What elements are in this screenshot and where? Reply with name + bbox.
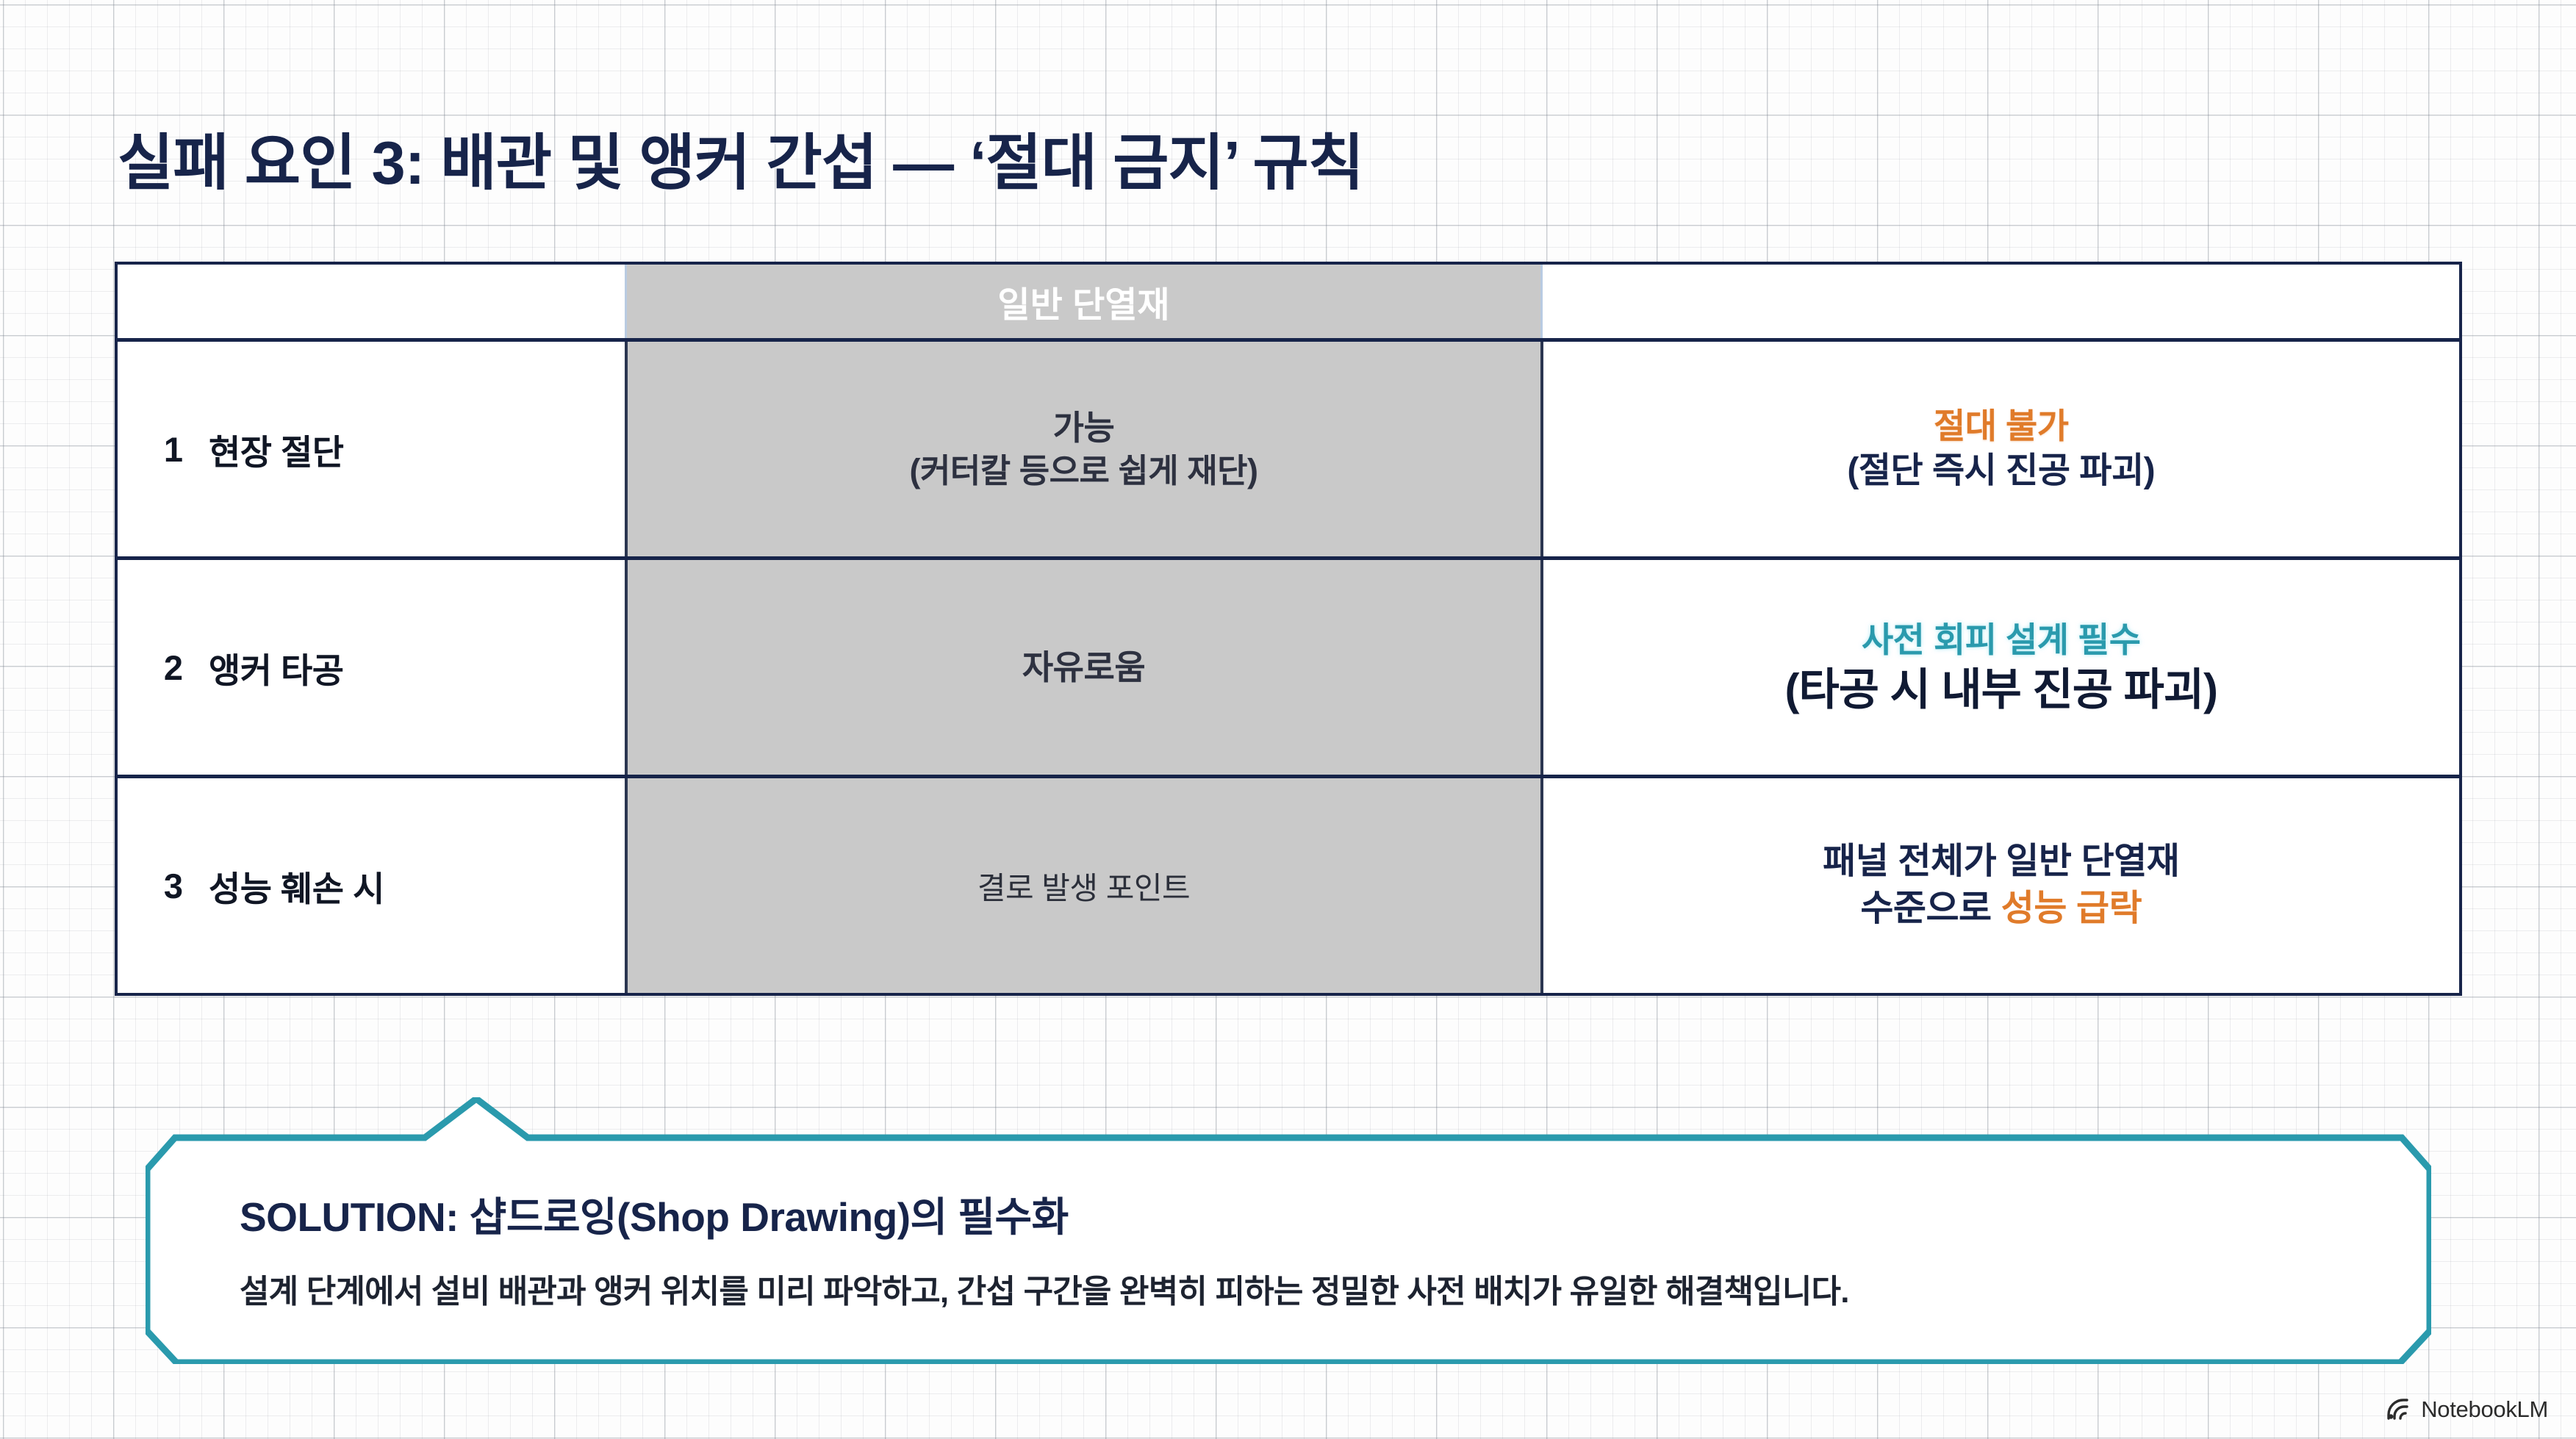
normal-cell-stack: 가능 (커터칼 등으로 쉽게 재단) bbox=[628, 406, 1540, 492]
comparison-table: 구분 일반 단열재 진공단열재(VIP) 1 현장 절단 가능 (커터칼 등으로… bbox=[118, 265, 2459, 993]
vip-cell-stack: 사전 회피 설계 필수 (타공 시 내부 진공 파괴) bbox=[1543, 617, 2460, 717]
vip-line-prefix: 수준으로 bbox=[1860, 889, 2001, 928]
normal-cell-stack: 결로 발생 포인트 bbox=[628, 864, 1540, 908]
normal-cell-stack: 자유로움 bbox=[628, 646, 1540, 689]
table-row: 2 앵커 타공 자유로움 사전 회피 설계 필수 (타공 시 내부 진공 파괴) bbox=[118, 559, 2459, 777]
notebooklm-logo-icon bbox=[2387, 1399, 2412, 1421]
row-number: 2 bbox=[147, 647, 200, 688]
vip-detail-text-2: 수준으로 성능 급락 bbox=[1543, 886, 2460, 933]
cell-vip-3: 패널 전체가 일반 단열재 수준으로 성능 급락 bbox=[1542, 777, 2460, 994]
normal-main-text: 자유로움 bbox=[628, 646, 1540, 689]
solution-content: SOLUTION: 샵드로잉(Shop Drawing)의 필수화 설계 단계에… bbox=[240, 1184, 2372, 1312]
vip-highlight-text: 절대 불가 bbox=[1543, 403, 2460, 448]
column-header-category: 구분 bbox=[118, 265, 626, 340]
column-header-vip-insulation: 진공단열재(VIP) bbox=[1542, 265, 2460, 340]
cell-normal-2: 자유로움 bbox=[626, 559, 1542, 777]
normal-main-text: 가능 bbox=[628, 406, 1540, 450]
solution-body-text: 설계 단계에서 설비 배관과 앵커 위치를 미리 파악하고, 간섭 구간을 완벽… bbox=[240, 1265, 2372, 1312]
table-row: 1 현장 절단 가능 (커터칼 등으로 쉽게 재단) 절대 불가 (절단 즉시 … bbox=[118, 340, 2459, 559]
cell-category-1: 1 현장 절단 bbox=[118, 340, 626, 559]
table-body: 1 현장 절단 가능 (커터칼 등으로 쉽게 재단) 절대 불가 (절단 즉시 … bbox=[118, 340, 2459, 994]
column-header-normal-insulation: 일반 단열재 bbox=[626, 265, 1542, 340]
slide-canvas: 실패 요인 3: 배관 및 앵커 간섭 — ‘절대 금지’ 규칙 구분 일반 단… bbox=[0, 0, 2576, 1439]
solution-heading: SOLUTION: 샵드로잉(Shop Drawing)의 필수화 bbox=[240, 1184, 2372, 1243]
vip-highlight-text: 사전 회피 설계 필수 bbox=[1543, 617, 2460, 662]
cell-category-3: 3 성능 훼손 시 bbox=[118, 777, 626, 994]
vip-detail-text: (절단 즉시 진공 파괴) bbox=[1543, 448, 2460, 494]
table-header-row: 구분 일반 단열재 진공단열재(VIP) bbox=[118, 265, 2459, 340]
watermark-label: NotebookLM bbox=[2421, 1396, 2548, 1423]
vip-cell-stack: 절대 불가 (절단 즉시 진공 파괴) bbox=[1543, 403, 2460, 494]
row-category-label: 앵커 타공 bbox=[209, 642, 344, 693]
vip-cell-stack: 패널 전체가 일반 단열재 수준으로 성능 급락 bbox=[1543, 839, 2460, 932]
category-cell-inner: 3 성능 훼손 시 bbox=[118, 861, 625, 911]
vip-line-highlight: 성능 급락 bbox=[2001, 889, 2142, 928]
row-number: 1 bbox=[147, 429, 200, 470]
row-number: 3 bbox=[147, 866, 200, 906]
page-title: 실패 요인 3: 배관 및 앵커 간섭 — ‘절대 금지’ 규칙 bbox=[118, 113, 1363, 201]
row-category-label: 현장 절단 bbox=[209, 424, 344, 475]
vip-detail-text: (타공 시 내부 진공 파괴) bbox=[1543, 662, 2460, 717]
category-cell-inner: 2 앵커 타공 bbox=[118, 642, 625, 693]
solution-callout: SOLUTION: 샵드로잉(Shop Drawing)의 필수화 설계 단계에… bbox=[146, 1097, 2431, 1364]
row-category-label: 성능 훼손 시 bbox=[209, 861, 384, 911]
normal-sub-text: (커터칼 등으로 쉽게 재단) bbox=[628, 450, 1540, 492]
cell-normal-3: 결로 발생 포인트 bbox=[626, 777, 1542, 994]
cell-normal-1: 가능 (커터칼 등으로 쉽게 재단) bbox=[626, 340, 1542, 559]
table-header: 구분 일반 단열재 진공단열재(VIP) bbox=[118, 265, 2459, 340]
category-cell-inner: 1 현장 절단 bbox=[118, 424, 625, 475]
vip-detail-text: 패널 전체가 일반 단열재 bbox=[1543, 839, 2460, 886]
table-row: 3 성능 훼손 시 결로 발생 포인트 패널 전체가 일반 단열재 수준으로 성… bbox=[118, 777, 2459, 994]
cell-category-2: 2 앵커 타공 bbox=[118, 559, 626, 777]
notebooklm-watermark: NotebookLM bbox=[2387, 1396, 2548, 1423]
cell-vip-1: 절대 불가 (절단 즉시 진공 파괴) bbox=[1542, 340, 2460, 559]
cell-vip-2: 사전 회피 설계 필수 (타공 시 내부 진공 파괴) bbox=[1542, 559, 2460, 777]
normal-main-text: 결로 발생 포인트 bbox=[628, 864, 1540, 908]
